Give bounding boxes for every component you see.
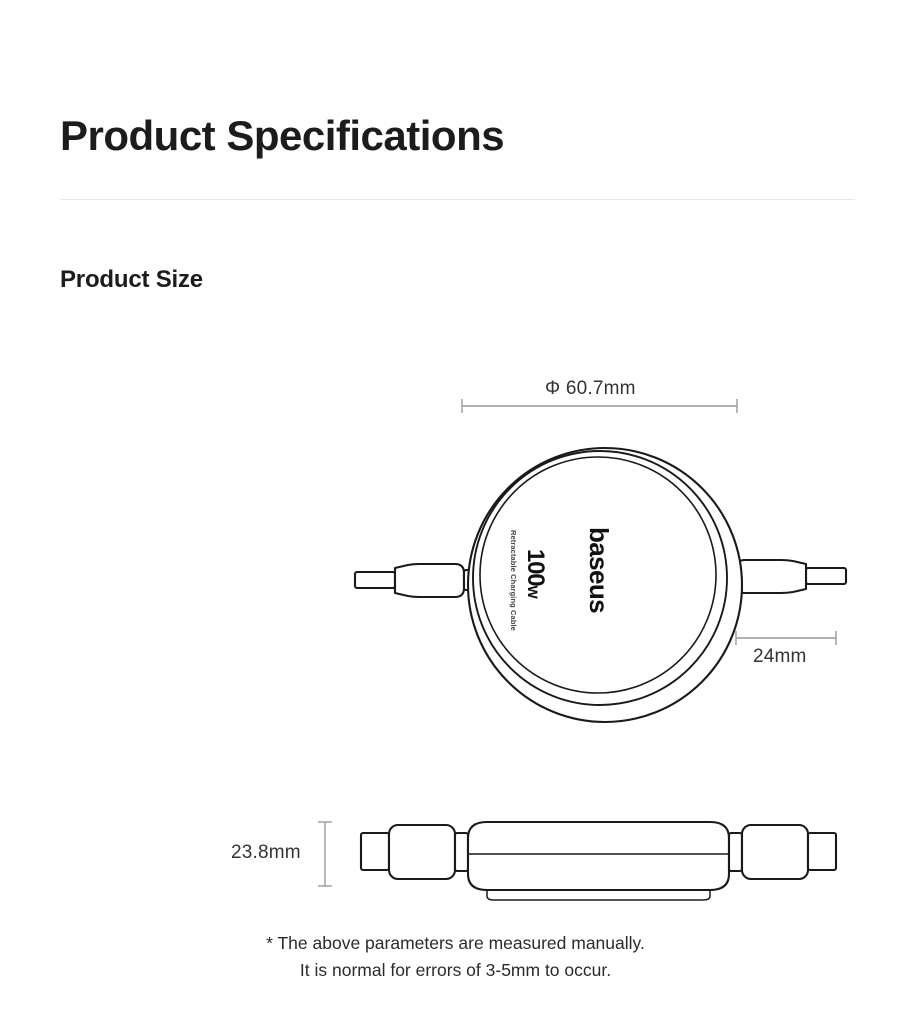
- left-connector-top-view: [355, 564, 476, 597]
- footnote: * The above parameters are measured manu…: [0, 930, 911, 984]
- cable-side-view: [361, 822, 836, 900]
- diameter-dimension-line: [462, 399, 737, 413]
- height-label: 23.8mm: [231, 842, 301, 864]
- thickness-dimension-line: [736, 631, 836, 645]
- height-dimension-line: [318, 822, 332, 886]
- thickness-label: 24mm: [753, 646, 807, 668]
- power-rating-value: 100: [522, 549, 549, 585]
- footnote-line-1: * The above parameters are measured manu…: [0, 930, 911, 957]
- brand-logo-text: baseus: [583, 527, 614, 613]
- power-rating-text: 100W: [521, 549, 549, 597]
- power-rating-unit: W: [525, 585, 541, 597]
- product-descriptor-text: Retractable Charging Cable: [509, 530, 518, 631]
- product-size-diagram: Φ 60.7mm 24mm 23.8mm baseus 100W Retract…: [0, 0, 911, 1024]
- footnote-line-2: It is normal for errors of 3-5mm to occu…: [0, 957, 911, 984]
- diameter-label: Φ 60.7mm: [545, 378, 636, 400]
- product-drawing-svg: [0, 0, 911, 1024]
